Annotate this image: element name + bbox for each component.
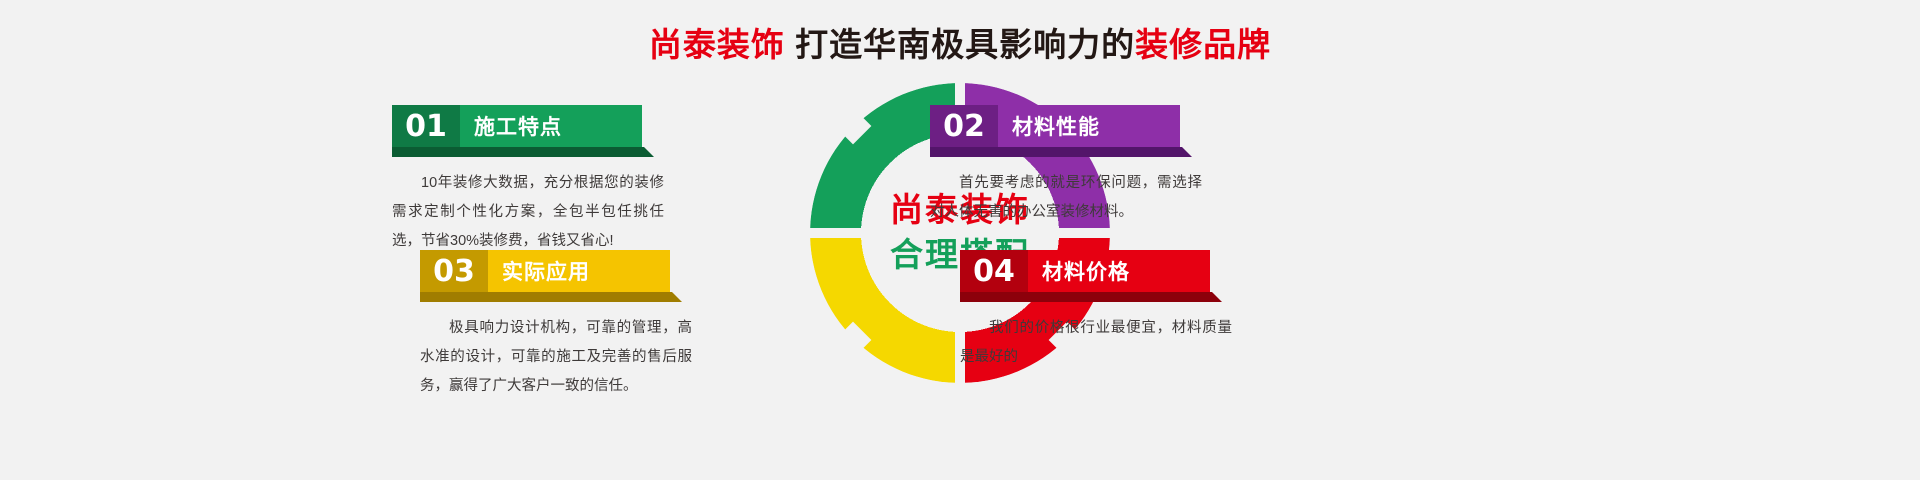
banner-flag-notch-01 [642, 105, 664, 147]
headline-highlight: 装修品牌 [1135, 26, 1271, 63]
feature-number-01: 01 [392, 105, 460, 147]
feature-item-02: 02 材料性能 首先要考虑的就是环保问题，需选择对人体无害的办公室装修材料。 [930, 105, 1202, 227]
feature-number-03: 03 [420, 250, 488, 292]
feature-desc-02: 首先要考虑的就是环保问题，需选择对人体无害的办公室装修材料。 [930, 169, 1202, 227]
feature-title-04: 材料价格 [1028, 250, 1210, 292]
feature-number-02: 02 [930, 105, 998, 147]
feature-banner-01: 01 施工特点 [392, 105, 664, 147]
feature-title-01: 施工特点 [460, 105, 642, 147]
feature-desc-03: 极具响力设计机构，可靠的管理，高水准的设计，可靠的施工及完善的售后服务，赢得了广… [420, 314, 692, 401]
headline-brand: 尚泰装饰 [649, 26, 785, 63]
feature-banner-02: 02 材料性能 [930, 105, 1202, 147]
feature-banner-03: 03 实际应用 [420, 250, 692, 292]
banner-fold-04 [960, 292, 1212, 302]
banner-fold-02 [930, 147, 1182, 157]
banner-flag-notch-03 [670, 250, 692, 292]
banner-flag-notch-02 [1180, 105, 1202, 147]
banner-flag-notch-04 [1210, 250, 1232, 292]
feature-desc-04: 我们的价格很行业最便宜，材料质量是最好的 [960, 314, 1232, 372]
feature-banner-04: 04 材料价格 [960, 250, 1232, 292]
feature-item-01: 01 施工特点 10年装修大数据，充分根据您的装修需求定制个性化方案，全包半包任… [392, 105, 664, 256]
feature-desc-01: 10年装修大数据，充分根据您的装修需求定制个性化方案，全包半包任挑任选，节省30… [392, 169, 664, 256]
banner-fold-03 [420, 292, 672, 302]
feature-item-03: 03 实际应用 极具响力设计机构，可靠的管理，高水准的设计，可靠的施工及完善的售… [420, 250, 692, 401]
page-title: 尚泰装饰 打造华南极具影响力的装修品牌 [0, 18, 1920, 66]
feature-item-04: 04 材料价格 我们的价格很行业最便宜，材料质量是最好的 [960, 250, 1232, 372]
banner-fold-01 [392, 147, 644, 157]
feature-number-04: 04 [960, 250, 1028, 292]
feature-title-02: 材料性能 [998, 105, 1180, 147]
headline-rest: 打造华南极具影响力的 [785, 26, 1135, 63]
feature-title-03: 实际应用 [488, 250, 670, 292]
